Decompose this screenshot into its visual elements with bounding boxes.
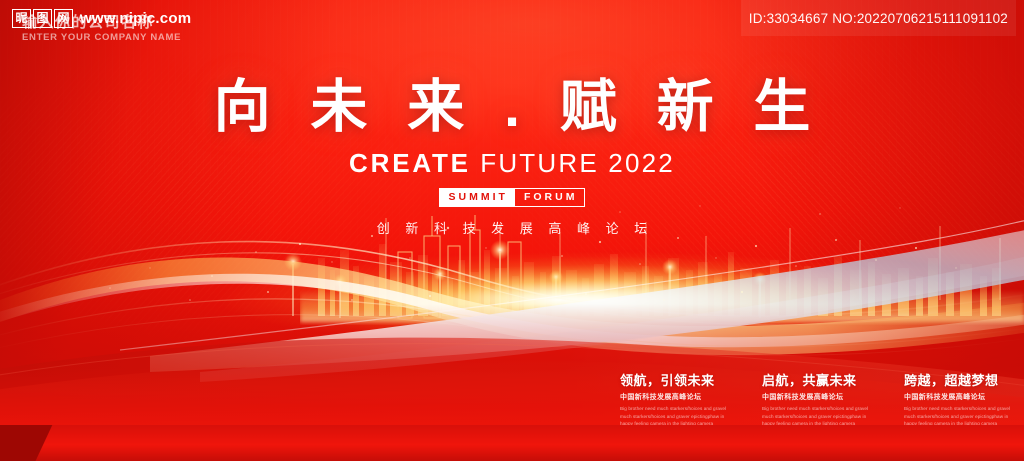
footer-subtitle: 中国新科技发展高峰论坛 <box>620 392 732 402</box>
asset-id-text: ID:33034667 NO:20220706215111091102 <box>741 0 1016 36</box>
nipic-logo-icon: 昵 图 网 <box>12 9 73 28</box>
badge-summit-label: SUMMIT <box>440 189 515 206</box>
footer-subtitle: 中国新科技发展高峰论坛 <box>904 392 1016 402</box>
footer-column-3: 跨越，超越梦想 中国新科技发展高峰论坛 Big brother need muc… <box>904 373 1016 428</box>
nipic-logo-char-3: 网 <box>54 9 73 28</box>
footer-title: 启航，共赢未来 <box>762 373 874 389</box>
footer-columns: 领航，引领未来 中国新科技发展高峰论坛 Big brother need muc… <box>620 373 1016 428</box>
watermark-corner-slash <box>0 425 120 461</box>
nipic-url-text: www.nipic.com <box>80 10 191 27</box>
nipic-logo-char-1: 昵 <box>12 9 31 28</box>
footer-column-1: 领航，引领未来 中国新科技发展高峰论坛 Big brother need muc… <box>620 373 732 428</box>
footer-subtitle: 中国新科技发展高峰论坛 <box>762 392 874 402</box>
headline-block: 向 未 来 . 赋 新 生 CREATE FUTURE 2022 SUMMIT … <box>0 78 1024 237</box>
nipic-logo-char-2: 图 <box>33 9 52 28</box>
watermark-bar <box>0 425 1024 461</box>
poster-canvas: 输入你的公司名称 ENTER YOUR COMPANY NAME 向 未 来 .… <box>0 0 1024 461</box>
chinese-subtitle: 创 新 科 技 发 展 高 峰 论 坛 <box>0 218 1024 237</box>
sub-title: CREATE FUTURE 2022 <box>0 148 1024 179</box>
badge-forum-label: FORUM <box>515 189 585 206</box>
sub-title-bold: CREATE <box>349 148 471 178</box>
nipic-watermark-link[interactable]: 昵 图 网 www.nipic.com <box>12 0 191 36</box>
summit-forum-badge-row: SUMMIT FORUM <box>0 188 1024 207</box>
sub-title-light: FUTURE 2022 <box>480 148 675 178</box>
main-title: 向 未 来 . 赋 新 生 <box>0 78 1024 138</box>
summit-forum-badge: SUMMIT FORUM <box>439 188 586 207</box>
footer-title: 跨越，超越梦想 <box>904 373 1016 389</box>
footer-column-2: 启航，共赢未来 中国新科技发展高峰论坛 Big brother need muc… <box>762 373 874 428</box>
footer-title: 领航，引领未来 <box>620 373 732 389</box>
